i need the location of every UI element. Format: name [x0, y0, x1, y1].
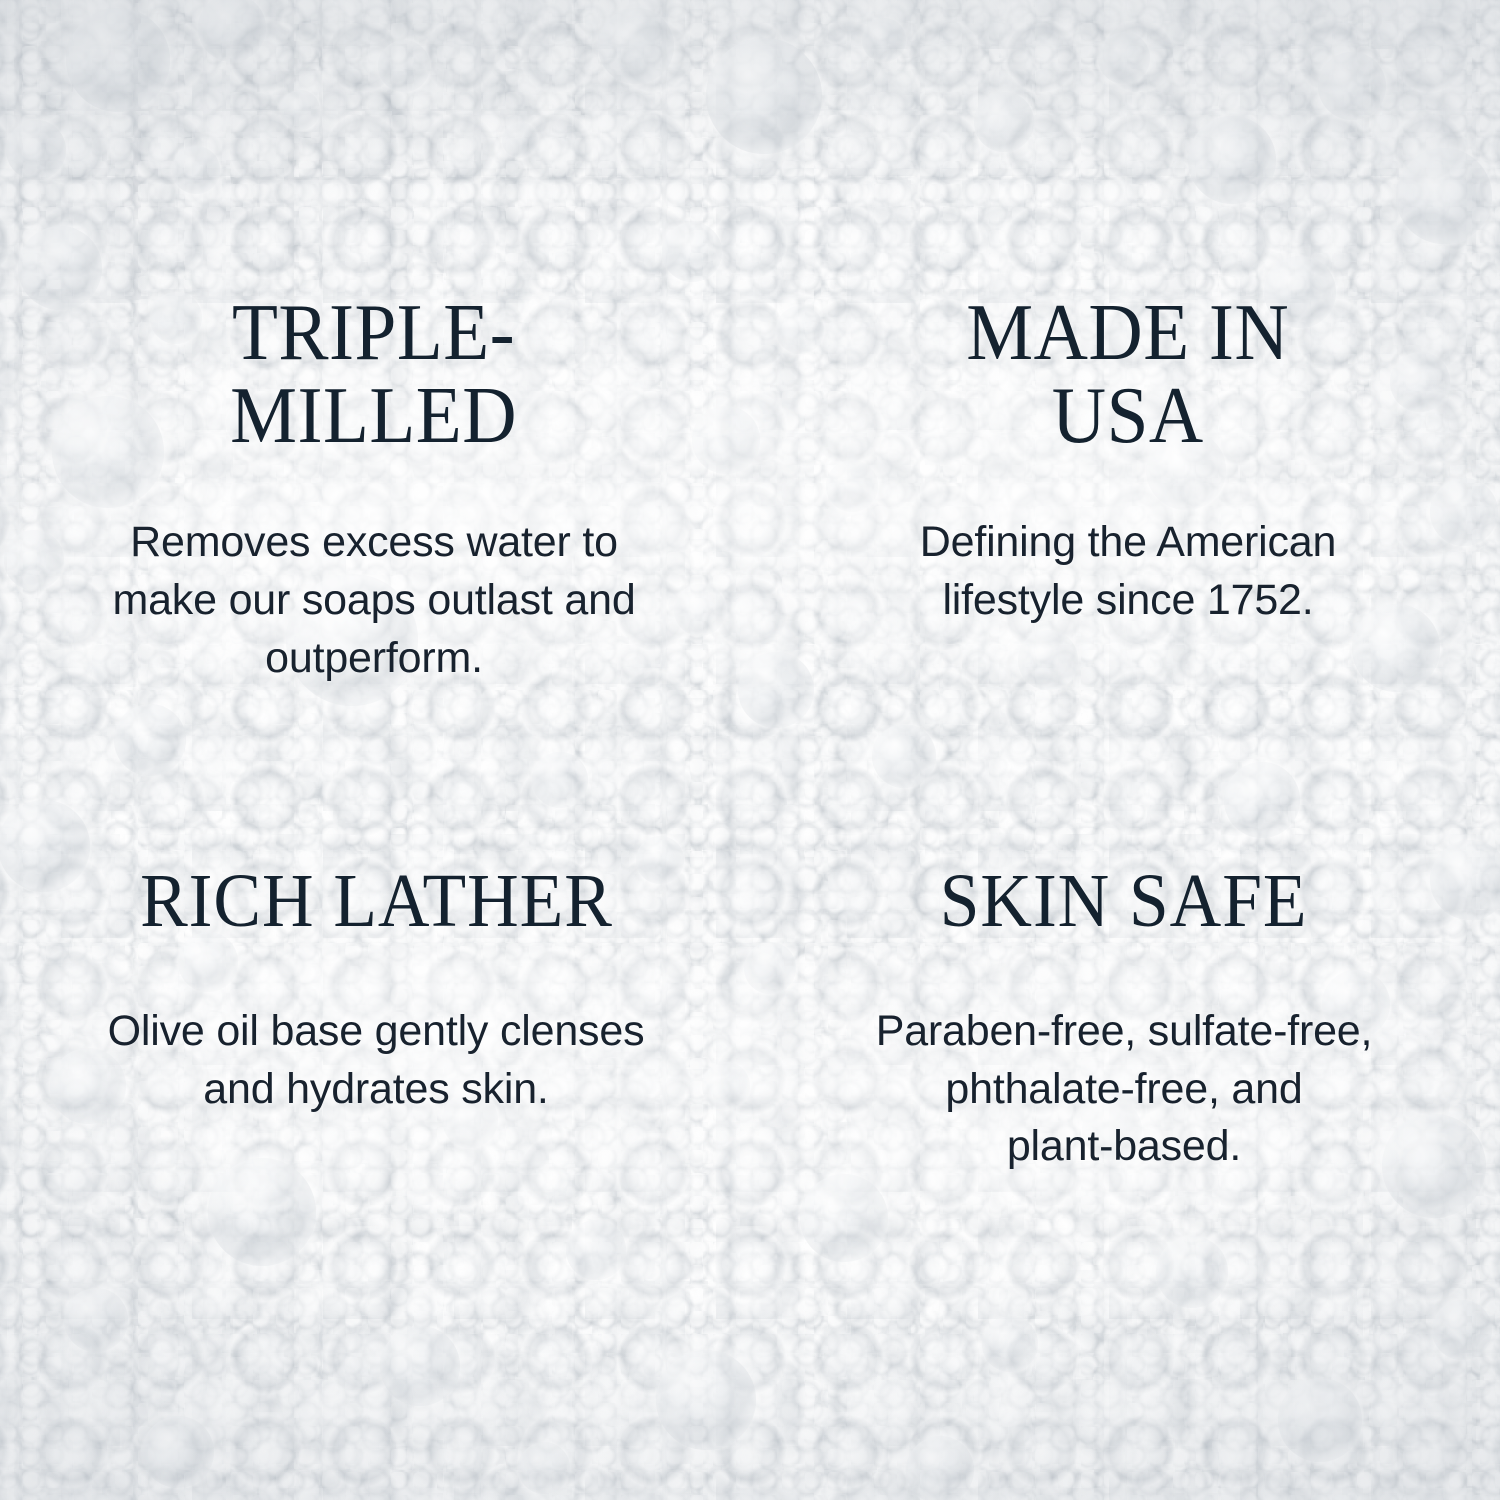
feature-heading: RICH LATHER — [140, 862, 613, 941]
feature-grid: TRIPLE- MILLED Removes excess water to m… — [0, 0, 1500, 1500]
feature-body: Paraben-free, sulfate-free, phthalate-fr… — [876, 1003, 1373, 1176]
feature-skin-safe: SKIN SAFE Paraben-free, sulfate-free, ph… — [760, 750, 1500, 1500]
feature-rich-lather: RICH LATHER Olive oil base gently clense… — [0, 750, 760, 1500]
feature-heading: TRIPLE- MILLED — [231, 292, 518, 458]
feature-made-in-usa: MADE IN USA Defining the American lifest… — [760, 0, 1500, 750]
feature-benefits-panel: TRIPLE- MILLED Removes excess water to m… — [0, 0, 1500, 1500]
feature-triple-milled: TRIPLE- MILLED Removes excess water to m… — [0, 0, 760, 750]
feature-body: Removes excess water to make our soaps o… — [112, 514, 635, 687]
feature-body: Olive oil base gently clenses and hydrat… — [108, 1003, 645, 1118]
feature-heading: SKIN SAFE — [940, 862, 1308, 941]
feature-body: Defining the American lifestyle since 17… — [920, 514, 1336, 629]
feature-heading: MADE IN USA — [967, 292, 1290, 458]
